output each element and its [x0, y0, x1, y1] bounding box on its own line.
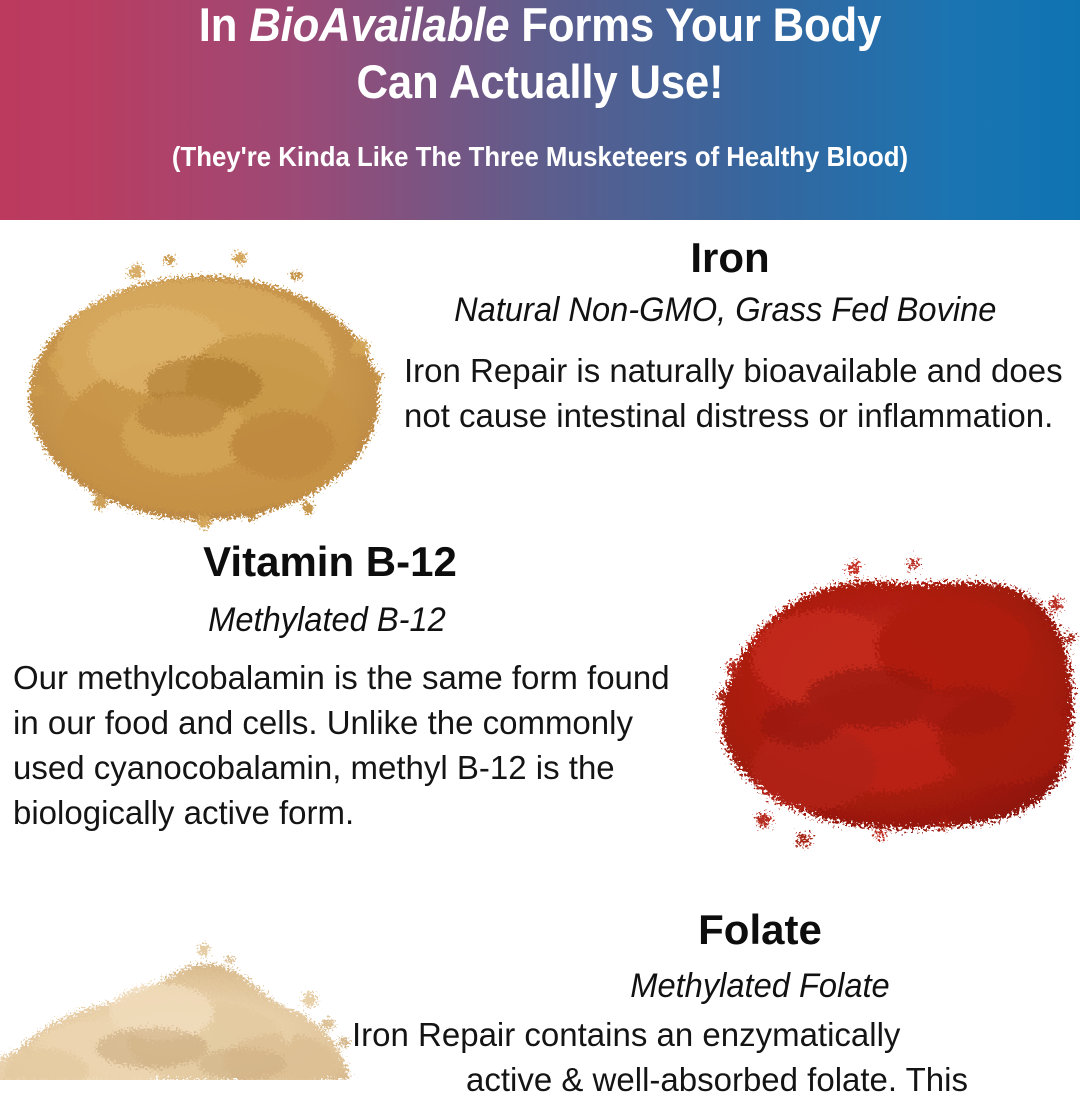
iron-section-title: Iron [0, 234, 1080, 282]
b12-section-body: Our methylcobalamin is the same form fou… [13, 655, 703, 835]
folate-section-body: Iron Repair contains an enzymatically ac… [352, 1012, 1080, 1102]
headline-emphasis-bioavailable: BioAvailable [249, 0, 509, 51]
b12-body-text: Our methylcobalamin is the same form fou… [13, 655, 703, 835]
folate-section-subtitle: Methylated Folate [453, 966, 1067, 1006]
b12-section-subtitle: Methylated B-12 [13, 600, 641, 640]
folate-body-text: Iron Repair contains an enzymatically [352, 1012, 1080, 1057]
folate-section-title: Folate [440, 906, 1080, 954]
header-banner: In BioAvailable Forms Your Body Can Actu… [0, 0, 1080, 220]
folate-powder-photo [0, 938, 364, 1080]
headline-part-2: Forms Your Body [509, 0, 881, 51]
banner-subheadline: (They're Kinda Like The Three Musketeers… [43, 140, 1037, 174]
b12-powder-photo [704, 548, 1080, 878]
iron-body-text: Iron Repair is naturally bioavailable an… [404, 348, 1076, 438]
iron-section-subtitle: Natural Non-GMO, Grass Fed Bovine [22, 290, 1059, 330]
headline-line-2: Can Actually Use! [357, 55, 724, 108]
b12-section-title: Vitamin B-12 [0, 538, 660, 586]
headline-part-1: In [199, 0, 249, 51]
banner-headline: In BioAvailable Forms Your Body Can Actu… [38, 0, 1042, 110]
iron-section-body: Iron Repair is naturally bioavailable an… [404, 348, 1076, 438]
